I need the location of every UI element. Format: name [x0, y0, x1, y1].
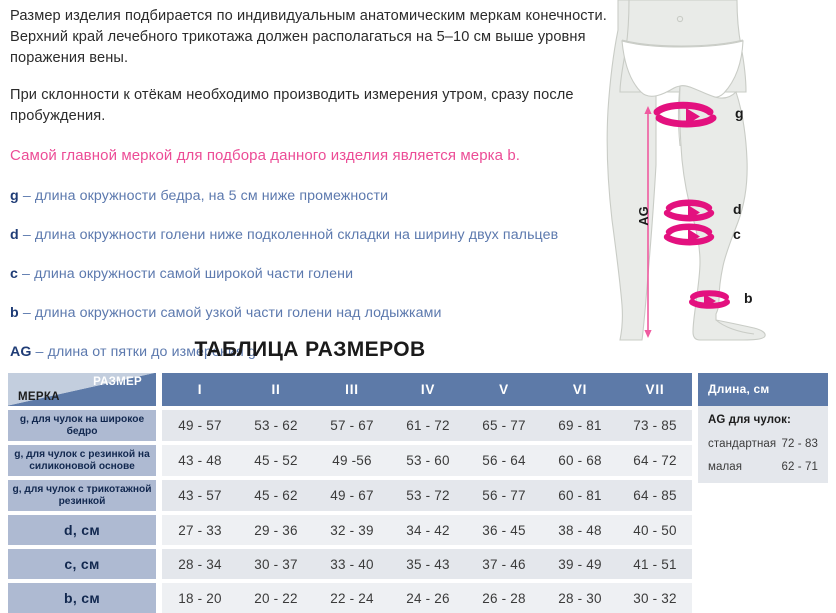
row-label-c: c, см	[8, 549, 156, 579]
measurement-definitions-list: g – длина окружности бедра, на 5 см ниже…	[10, 186, 610, 362]
cell-c-7: 41 - 51	[618, 549, 692, 579]
intro-paragraph-2: При склонности к отёкам необходимо произ…	[10, 85, 610, 127]
cell-d-3: 32 - 39	[314, 515, 390, 545]
row-label-b: b, см	[8, 583, 156, 613]
highlight-note: Самой главной меркой для подбора данного…	[10, 145, 610, 166]
cell-g-knit-6: 60 - 81	[542, 480, 618, 511]
cell-d-4: 34 - 42	[390, 515, 466, 545]
cell-b-6: 28 - 30	[542, 583, 618, 613]
definition-text-b: длина окружности самой узкой части голен…	[35, 305, 442, 321]
row-label-g-wide: g, для чулок на широкое бедро	[8, 410, 156, 441]
cell-c-5: 37 - 46	[466, 549, 542, 579]
length-panel-body: AG для чулок: стандартная 72 - 83 малая …	[698, 406, 828, 483]
cell-b-2: 20 - 22	[238, 583, 314, 613]
label-g: g	[735, 105, 744, 121]
cell-c-4: 35 - 43	[390, 549, 466, 579]
definition-key-c: c	[10, 266, 18, 282]
row-label-d: d, см	[8, 515, 156, 545]
cell-g-knit-1: 43 - 57	[162, 480, 238, 511]
cell-d-5: 36 - 45	[466, 515, 542, 545]
cell-g-silicone-2: 45 - 52	[238, 445, 314, 476]
definition-key-g: g	[10, 188, 19, 204]
definition-item-c: c – длина окружности самой широкой части…	[10, 264, 610, 284]
cell-g-silicone-5: 56 - 64	[466, 445, 542, 476]
size-table-body: g, для чулок на широкое бедро 49 - 57 53…	[8, 406, 692, 613]
definition-text-c: длина окружности самой широкой части гол…	[34, 266, 353, 282]
size-header-6: VI	[542, 373, 618, 406]
cell-g-wide-6: 69 - 81	[542, 410, 618, 441]
size-header-5: V	[466, 373, 542, 406]
definition-text-d: длина окружности голени ниже подколенной…	[35, 227, 558, 243]
cell-g-silicone-1: 43 - 48	[162, 445, 238, 476]
table-row-g-wide: g, для чулок на широкое бедро 49 - 57 53…	[8, 410, 692, 441]
cell-d-7: 40 - 50	[618, 515, 692, 545]
length-row-standard-value: 72 - 83	[781, 438, 818, 450]
definition-dash-d: –	[19, 227, 35, 243]
length-row-standard-name: стандартная	[708, 438, 776, 450]
cell-g-knit-7: 64 - 85	[618, 480, 692, 511]
table-header-row: МЕРКА РАЗМЕР I II III IV V VI VII	[8, 373, 692, 406]
cell-g-silicone-7: 64 - 72	[618, 445, 692, 476]
cell-g-knit-3: 49 - 67	[314, 480, 390, 511]
cell-b-7: 30 - 32	[618, 583, 692, 613]
definition-dash-g: –	[19, 188, 35, 204]
cell-g-silicone-3: 49 -56	[314, 445, 390, 476]
body-silhouette	[607, 0, 765, 340]
intro-paragraph-1: Размер изделия подбирается по индивидуал…	[10, 6, 610, 69]
cell-g-wide-3: 57 - 67	[314, 410, 390, 441]
size-table-title: ТАБЛИЦА РАЗМЕРОВ	[0, 338, 620, 362]
cell-b-4: 24 - 26	[390, 583, 466, 613]
cell-g-wide-7: 73 - 85	[618, 410, 692, 441]
header-corner-cell: МЕРКА РАЗМЕР	[8, 373, 156, 406]
cell-d-6: 38 - 48	[542, 515, 618, 545]
cell-b-3: 22 - 24	[314, 583, 390, 613]
length-row-small-name: малая	[708, 461, 742, 473]
cell-g-knit-5: 56 - 77	[466, 480, 542, 511]
corner-label-razmer: РАЗМЕР	[93, 376, 142, 388]
cell-g-wide-4: 61 - 72	[390, 410, 466, 441]
ag-label: AG	[636, 206, 651, 226]
corner-label-merka: МЕРКА	[18, 391, 60, 403]
cell-b-1: 18 - 20	[162, 583, 238, 613]
cell-g-knit-2: 45 - 62	[238, 480, 314, 511]
size-header-7: VII	[618, 373, 692, 406]
length-panel-header: Длина, см	[698, 373, 828, 406]
length-panel: Длина, см AG для чулок: стандартная 72 -…	[698, 373, 828, 483]
definition-key-d: d	[10, 227, 19, 243]
instructions-panel: Размер изделия подбирается по индивидуал…	[10, 6, 610, 381]
label-c: c	[733, 226, 741, 242]
cell-g-knit-4: 53 - 72	[390, 480, 466, 511]
table-row-c: c, см 28 - 34 30 - 37 33 - 40 35 - 43 37…	[8, 549, 692, 579]
cell-b-5: 26 - 28	[466, 583, 542, 613]
cell-g-wide-1: 49 - 57	[162, 410, 238, 441]
cell-g-silicone-6: 60 - 68	[542, 445, 618, 476]
definition-item-d: d – длина окружности голени ниже подколе…	[10, 225, 610, 245]
cell-c-2: 30 - 37	[238, 549, 314, 579]
row-label-g-knit: g, для чулок с трикотажной резинкой	[8, 480, 156, 511]
cell-g-silicone-4: 53 - 60	[390, 445, 466, 476]
table-row-b: b, см 18 - 20 20 - 22 22 - 24 24 - 26 26…	[8, 583, 692, 613]
definition-dash-c: –	[18, 266, 34, 282]
definition-item-g: g – длина окружности бедра, на 5 см ниже…	[10, 186, 610, 206]
cell-c-1: 28 - 34	[162, 549, 238, 579]
table-row-g-knit: g, для чулок с трикотажной резинкой 43 -…	[8, 480, 692, 511]
length-row-small: малая 62 - 71	[708, 461, 818, 473]
size-header-4: IV	[390, 373, 466, 406]
table-row-g-silicone: g, для чулок с резинкой на силиконовой о…	[8, 445, 692, 476]
cell-c-6: 39 - 49	[542, 549, 618, 579]
size-header-3: III	[314, 373, 390, 406]
length-row-small-value: 62 - 71	[781, 461, 818, 473]
length-row-standard: стандартная 72 - 83	[708, 438, 818, 450]
label-d: d	[733, 201, 742, 217]
cell-d-1: 27 - 33	[162, 515, 238, 545]
cell-c-3: 33 - 40	[314, 549, 390, 579]
definition-key-b: b	[10, 305, 19, 321]
cell-g-wide-5: 65 - 77	[466, 410, 542, 441]
size-table: МЕРКА РАЗМЕР I II III IV V VI VII g, для…	[8, 373, 692, 613]
size-header-2: II	[238, 373, 314, 406]
definition-item-b: b – длина окружности самой узкой части г…	[10, 303, 610, 323]
leg-measurement-illustration: AG g d c b	[596, 0, 836, 352]
definition-dash-b: –	[19, 305, 35, 321]
size-table-wrapper: МЕРКА РАЗМЕР I II III IV V VI VII g, для…	[8, 373, 692, 613]
size-header-1: I	[162, 373, 238, 406]
row-label-g-silicone: g, для чулок с резинкой на силиконовой о…	[8, 445, 156, 476]
cell-d-2: 29 - 36	[238, 515, 314, 545]
table-row-d: d, см 27 - 33 29 - 36 32 - 39 34 - 42 36…	[8, 515, 692, 545]
label-b: b	[744, 290, 753, 306]
length-panel-title: AG для чулок:	[708, 414, 818, 426]
definition-text-g: длина окружности бедра, на 5 см ниже про…	[35, 188, 388, 204]
cell-g-wide-2: 53 - 62	[238, 410, 314, 441]
